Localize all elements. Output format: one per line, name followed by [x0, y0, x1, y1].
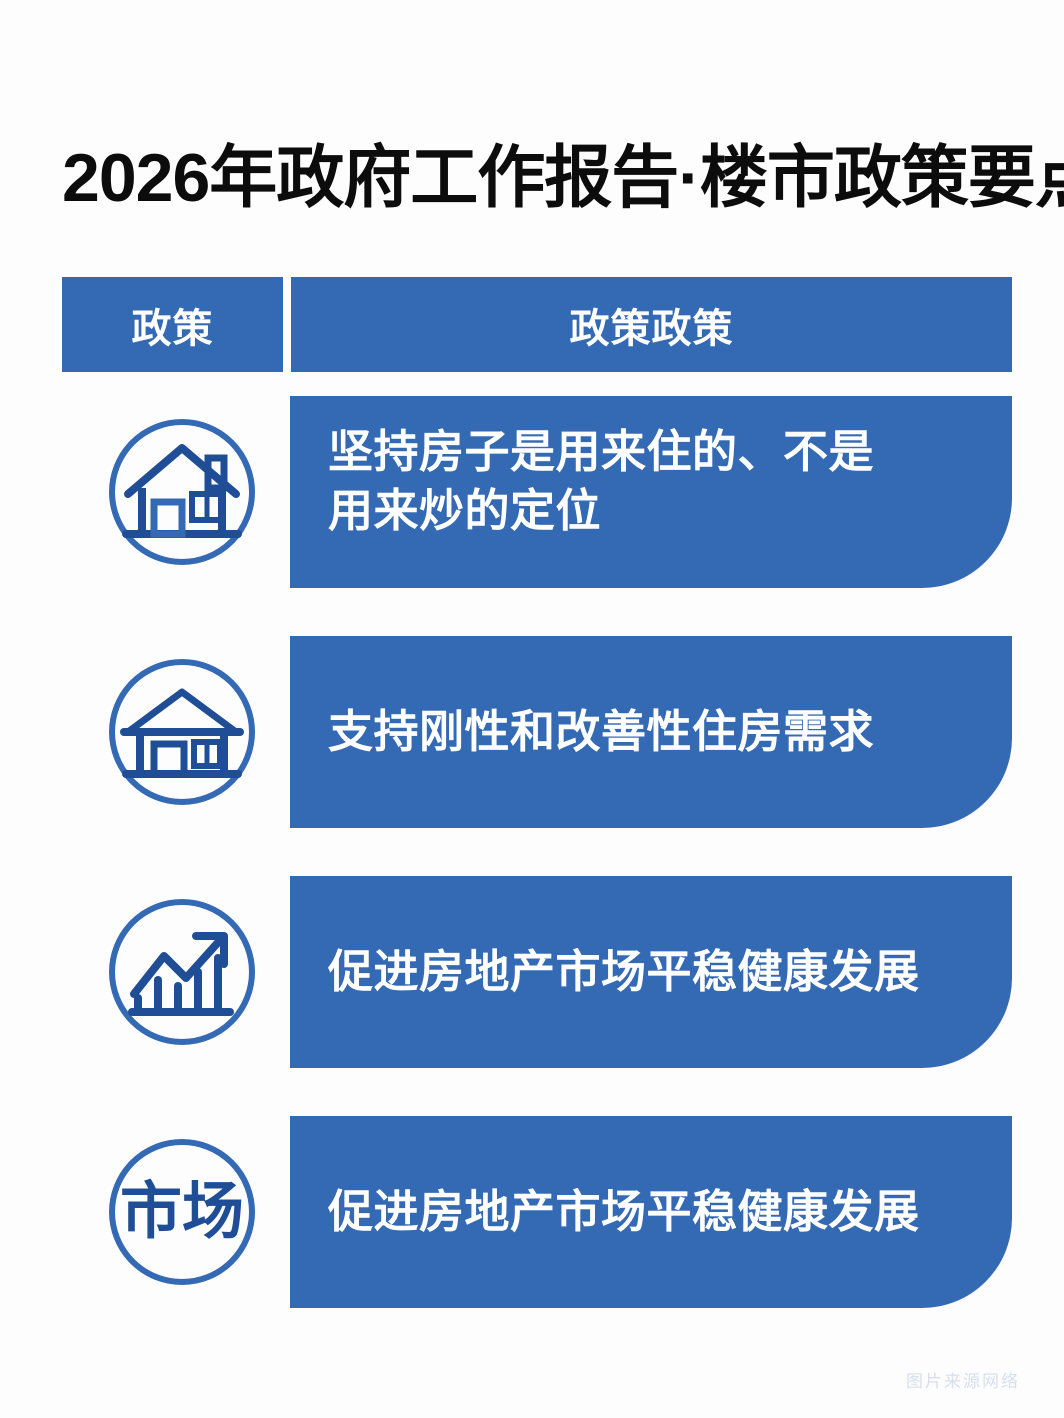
policy-bar: 坚持房子是用来住的、不是 用来炒的定位 [290, 396, 1012, 588]
table-row: 促进房地产市场平稳健康发展 [62, 876, 1012, 1068]
infographic-poster: 2026年政府工作报告·楼市政策要点 政策 政策政策 [0, 0, 1064, 1418]
table-row: 坚持房子是用来住的、不是 用来炒的定位 [62, 396, 1012, 588]
market-character-icon: 市场 [104, 1134, 260, 1290]
table-header-cell-policy: 政策 [62, 277, 283, 372]
policy-row-list: 坚持房子是用来住的、不是 用来炒的定位 支持刚性和改善性住房需求 [62, 396, 1012, 1308]
header-divider [283, 277, 291, 372]
house-wide-roof-icon [104, 654, 260, 810]
table-row: 市场 促进房地产市场平稳健康发展 [62, 1116, 1012, 1308]
page-title: 2026年政府工作报告·楼市政策要点 [62, 132, 1012, 224]
policy-text: 促进房地产市场平稳健康发展 [328, 942, 920, 1001]
table-row: 支持刚性和改善性住房需求 [62, 636, 1012, 828]
table-header-cell-policy-detail: 政策政策 [291, 277, 1012, 372]
policy-bar: 促进房地产市场平稳健康发展 [290, 876, 1012, 1068]
policy-bar: 促进房地产市场平稳健康发展 [290, 1116, 1012, 1308]
market-glyph-text: 市场 [120, 1178, 244, 1247]
table-header-row: 政策 政策政策 [62, 277, 1012, 372]
watermark: 图片来源网络 [906, 1367, 1020, 1392]
policy-text: 坚持房子是用来住的、不是 用来炒的定位 [328, 422, 874, 541]
growth-chart-icon [104, 894, 260, 1050]
house-with-chimney-icon [104, 414, 260, 570]
policy-bar: 支持刚性和改善性住房需求 [290, 636, 1012, 828]
policy-text: 支持刚性和改善性住房需求 [328, 702, 874, 761]
policy-text: 促进房地产市场平稳健康发展 [328, 1182, 920, 1241]
